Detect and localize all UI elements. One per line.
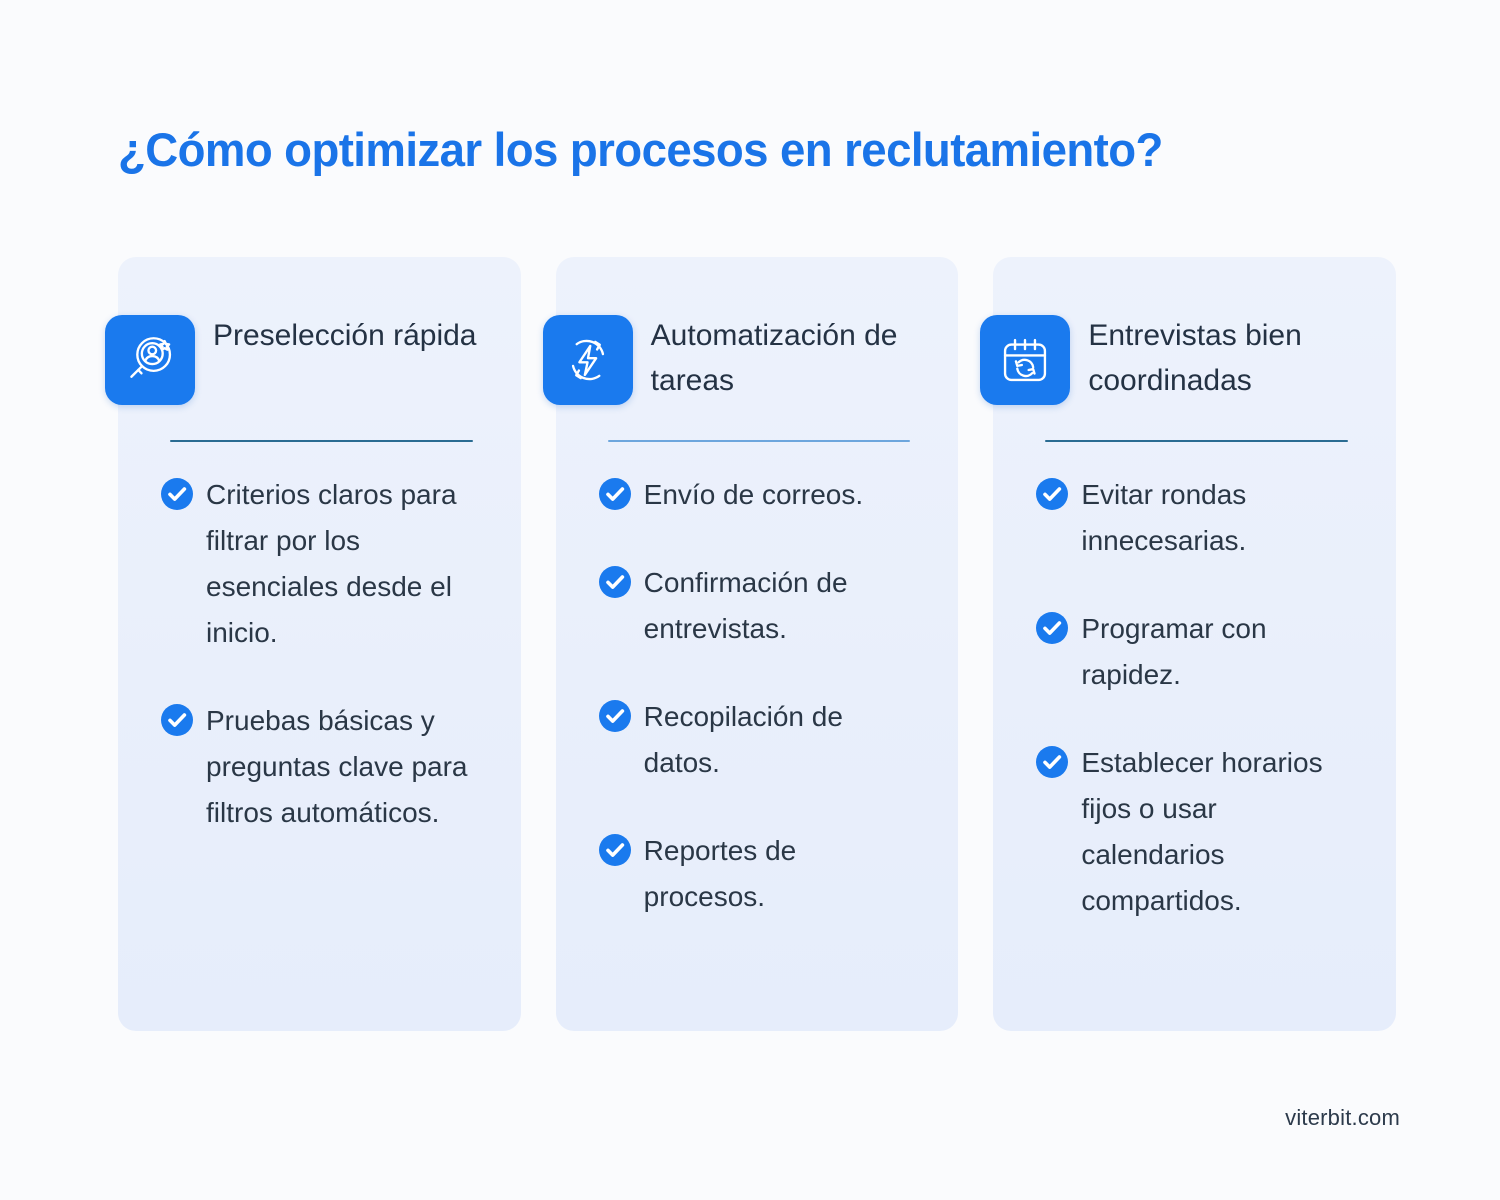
cards-row: Preselección rápida Criterios claros par…: [118, 257, 1396, 1031]
bullet-list: Criterios claros para filtrar por los es…: [161, 472, 493, 836]
card-preseleccion-rapida: Preselección rápida Criterios claros par…: [118, 257, 521, 1031]
card-title: Preselección rápida: [213, 313, 511, 358]
card-automatizacion-de-tareas: Automatización de tareas Envío de correo…: [556, 257, 959, 1031]
bullet-list: Evitar rondas innecesarias. Programar co…: [1036, 472, 1368, 924]
card-entrevistas-bien-coordinadas: Entrevistas bien coordinadas Evitar rond…: [993, 257, 1396, 1031]
card-header: Entrevistas bien coordinadas: [993, 257, 1396, 405]
card-divider: [1045, 440, 1348, 442]
list-item: Programar con rapidez.: [1036, 606, 1368, 698]
list-item: Pruebas básicas y preguntas clave para f…: [161, 698, 493, 836]
card-title: Automatización de tareas: [651, 313, 949, 403]
list-item-text: Reportes de procesos.: [644, 828, 916, 920]
list-item: Evitar rondas innecesarias.: [1036, 472, 1368, 564]
list-item-text: Recopilación de datos.: [644, 694, 916, 786]
list-item: Criterios claros para filtrar por los es…: [161, 472, 493, 656]
calendar-sync-icon: [980, 315, 1070, 405]
check-circle-icon: [1036, 746, 1068, 778]
watermark: viterbit.com: [1285, 1105, 1400, 1131]
list-item-text: Confirmación de entrevistas.: [644, 560, 916, 652]
list-item-text: Pruebas básicas y preguntas clave para f…: [206, 698, 474, 836]
check-circle-icon: [161, 704, 193, 736]
card-header: Automatización de tareas: [556, 257, 959, 405]
bullet-list: Envío de correos. Confirmación de entrev…: [599, 472, 931, 920]
list-item: Establecer horarios fijos o usar calenda…: [1036, 740, 1368, 924]
list-item-text: Evitar rondas innecesarias.: [1081, 472, 1349, 564]
check-circle-icon: [599, 700, 631, 732]
infographic-page: ¿Cómo optimizar los procesos en reclutam…: [0, 0, 1500, 1200]
card-title: Entrevistas bien coordinadas: [1088, 313, 1386, 403]
automation-bolt-icon: [543, 315, 633, 405]
list-item: Confirmación de entrevistas.: [599, 560, 931, 652]
check-circle-icon: [161, 478, 193, 510]
candidate-search-icon: [105, 315, 195, 405]
check-circle-icon: [599, 566, 631, 598]
card-divider: [170, 440, 473, 442]
page-title: ¿Cómo optimizar los procesos en reclutam…: [118, 118, 1360, 182]
list-item-text: Envío de correos.: [644, 472, 863, 518]
list-item: Envío de correos.: [599, 472, 931, 518]
card-header: Preselección rápida: [118, 257, 521, 405]
list-item: Reportes de procesos.: [599, 828, 931, 920]
check-circle-icon: [1036, 612, 1068, 644]
check-circle-icon: [1036, 478, 1068, 510]
list-item-text: Establecer horarios fijos o usar calenda…: [1081, 740, 1349, 924]
list-item: Recopilación de datos.: [599, 694, 931, 786]
list-item-text: Programar con rapidez.: [1081, 606, 1349, 698]
list-item-text: Criterios claros para filtrar por los es…: [206, 472, 474, 656]
check-circle-icon: [599, 478, 631, 510]
card-divider: [608, 440, 911, 442]
check-circle-icon: [599, 834, 631, 866]
